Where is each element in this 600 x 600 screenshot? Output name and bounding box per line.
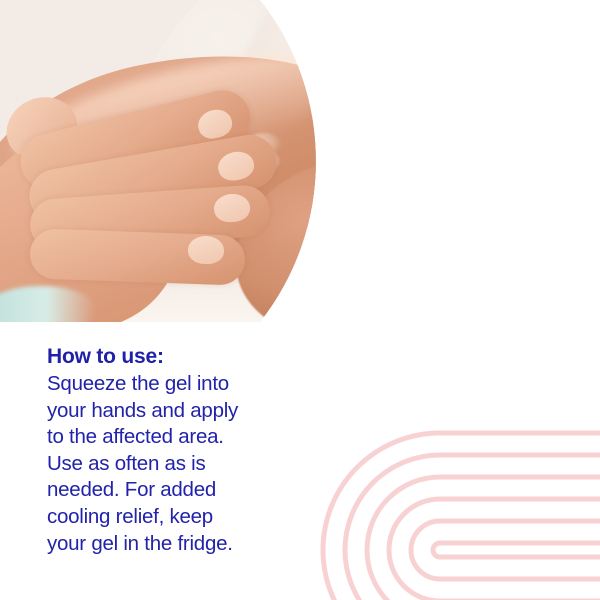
- arc-group: [323, 433, 600, 600]
- arc-ring-5: [411, 521, 600, 579]
- arc-ring-6: [433, 543, 600, 557]
- poster-canvas: How to use: Squeeze the gel into your ha…: [0, 0, 600, 600]
- decorative-arcs: [300, 400, 600, 600]
- photo-artwork: [0, 0, 450, 322]
- concentric-arcs-svg: [300, 400, 600, 600]
- instructions-heading: How to use:: [47, 344, 322, 370]
- product-usage-photo: [0, 0, 450, 322]
- instructions-block: How to use: Squeeze the gel into your ha…: [47, 344, 322, 557]
- instructions-body: Squeeze the gel into your hands and appl…: [47, 371, 322, 557]
- arc-ring-2: [345, 455, 600, 600]
- photo-fingernail-little: [188, 235, 225, 264]
- arc-ring-4: [389, 499, 600, 600]
- photo-block: [0, 0, 600, 330]
- arc-ring-1: [323, 433, 600, 600]
- arc-ring-3: [367, 477, 600, 600]
